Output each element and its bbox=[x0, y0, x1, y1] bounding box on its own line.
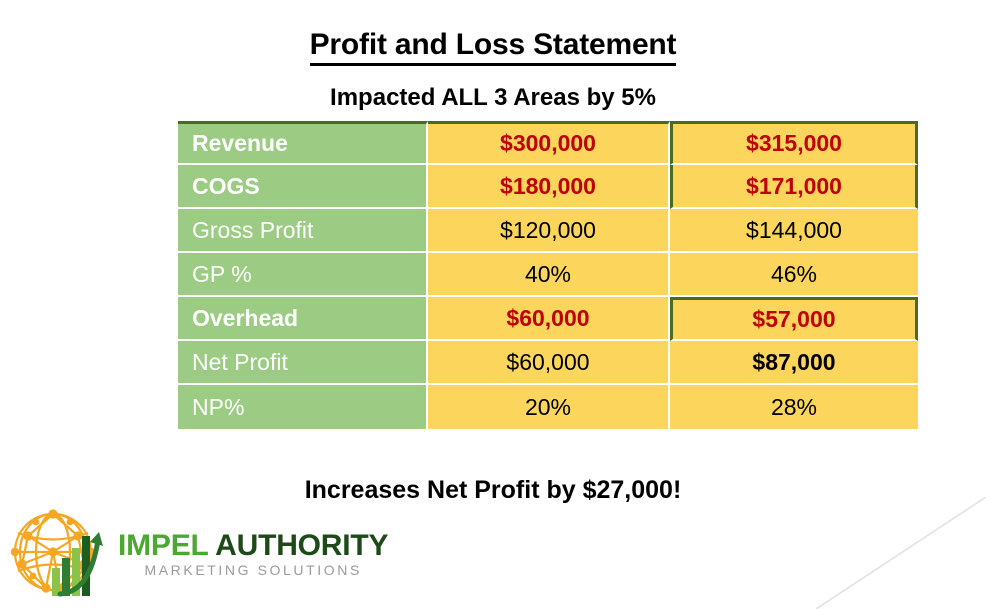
table-row: Revenue $300,000 $315,000 bbox=[178, 121, 918, 165]
profit-and-loss-table: Revenue $300,000 $315,000 COGS $180,000 … bbox=[178, 121, 918, 429]
page-title-text: Profit and Loss Statement bbox=[310, 28, 677, 66]
row-label-overhead: Overhead bbox=[178, 297, 428, 341]
row-label-gp-percent: GP % bbox=[178, 253, 428, 297]
table-row: Overhead $60,000 $57,000 bbox=[178, 297, 918, 341]
logo-wordmark: IMPEL AUTHORITY bbox=[118, 530, 388, 561]
row-after-revenue: $315,000 bbox=[670, 121, 918, 165]
row-before-gp-percent: 40% bbox=[428, 253, 670, 297]
row-after-overhead: $57,000 bbox=[670, 297, 918, 341]
row-before-cogs: $180,000 bbox=[428, 165, 670, 209]
table-row: NP% 20% 28% bbox=[178, 385, 918, 429]
row-before-net-profit: $60,000 bbox=[428, 341, 670, 385]
logo-tagline: MARKETING SOLUTIONS bbox=[118, 562, 388, 578]
network-globe-growth-chart-icon bbox=[8, 506, 112, 602]
page-title: Profit and Loss Statement bbox=[0, 28, 986, 62]
row-label-np-percent: NP% bbox=[178, 385, 428, 429]
decorative-diagonal-line bbox=[816, 497, 986, 609]
row-after-net-profit: $87,000 bbox=[670, 341, 918, 385]
row-label-gross-profit: Gross Profit bbox=[178, 209, 428, 253]
logo-word-authority: AUTHORITY bbox=[215, 529, 388, 562]
row-before-revenue: $300,000 bbox=[428, 121, 670, 165]
table-row: COGS $180,000 $171,000 bbox=[178, 165, 918, 209]
table-row: Gross Profit $120,000 $144,000 bbox=[178, 209, 918, 253]
row-before-np-percent: 20% bbox=[428, 385, 670, 429]
row-label-cogs: COGS bbox=[178, 165, 428, 209]
row-label-revenue: Revenue bbox=[178, 121, 428, 165]
summary-caption: Increases Net Profit by $27,000! bbox=[0, 476, 986, 505]
table-row: Net Profit $60,000 $87,000 bbox=[178, 341, 918, 385]
page-subtitle: Impacted ALL 3 Areas by 5% bbox=[0, 84, 986, 112]
logo-word-impel: IMPEL bbox=[118, 529, 215, 562]
row-after-cogs: $171,000 bbox=[670, 165, 918, 209]
logo-text-block: IMPEL AUTHORITY MARKETING SOLUTIONS bbox=[118, 530, 388, 578]
row-before-overhead: $60,000 bbox=[428, 297, 670, 341]
row-after-gross-profit: $144,000 bbox=[670, 209, 918, 253]
row-after-np-percent: 28% bbox=[670, 385, 918, 429]
company-logo: IMPEL AUTHORITY MARKETING SOLUTIONS bbox=[8, 506, 388, 602]
row-before-gross-profit: $120,000 bbox=[428, 209, 670, 253]
table-row: GP % 40% 46% bbox=[178, 253, 918, 297]
row-label-net-profit: Net Profit bbox=[178, 341, 428, 385]
row-after-gp-percent: 46% bbox=[670, 253, 918, 297]
